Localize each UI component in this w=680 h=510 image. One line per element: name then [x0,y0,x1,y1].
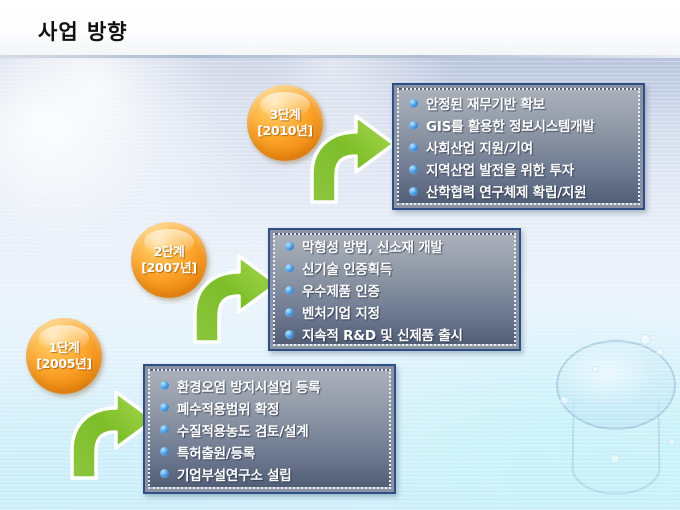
bubble-icon [610,454,620,464]
list-item: 폐수적용범위 확정 [160,398,379,418]
list-item-label: 기업부설연구소 설립 [177,464,291,484]
blue-gem-bullet-icon [160,381,169,390]
curved-arrow-icon [302,112,398,204]
stage-2-box-inner: 막형성 방법, 신소재 개발 신기술 인증획득 우수제품 인증 벤처기업 지정 … [273,233,516,346]
list-item: 벤처기업 지정 [285,302,504,322]
blue-gem-bullet-icon [160,425,169,434]
blue-gem-bullet-icon [409,99,418,108]
slide-canvas: 사업 방향 3단계 [2010년] 안정된 재무기반 확보 GIS를 활용한 정… [0,0,680,510]
list-item: 막형성 방법, 신소재 개발 [285,236,504,256]
list-item-label: 수질적용농도 검토/설계 [177,420,308,440]
blue-gem-bullet-icon [285,242,294,251]
list-item-label: 사회산업 지원/기여 [426,137,533,157]
blue-gem-bullet-icon [409,143,418,152]
list-item: 환경오염 방지시설업 등록 [160,376,379,396]
list-item: 지역산업 발전을 위한 투자 [409,159,628,179]
blue-gem-bullet-icon [160,469,169,478]
stage-badge-1-label: 1단계 [49,340,80,356]
water-glass-image [548,334,680,510]
stage-3-box-inner: 안정된 재무기반 확보 GIS를 활용한 정보시스템개발 사회산업 지원/기여 … [397,88,640,205]
stage-1-box-inner: 환경오염 방지시설업 등록 폐수적용범위 확정 수질적용농도 검토/설계 특허출… [148,369,391,489]
bubble-icon [592,366,599,373]
blue-gem-bullet-icon [285,264,294,273]
stage-1-box: 환경오염 방지시설업 등록 폐수적용범위 확정 수질적용농도 검토/설계 특허출… [143,364,396,494]
list-item: 신기술 인증획득 [285,258,504,278]
list-item-label: 우수제품 인증 [302,280,380,300]
blue-gem-bullet-icon [285,286,294,295]
list-item-label: 벤처기업 지정 [302,302,380,322]
stage-3-box: 안정된 재무기반 확보 GIS를 활용한 정보시스템개발 사회산업 지원/기여 … [392,83,645,210]
blue-gem-bullet-icon [160,447,169,456]
stage-badge-3-label: 3단계 [270,107,301,123]
stage-2-box: 막형성 방법, 신소재 개발 신기술 인증획득 우수제품 인증 벤처기업 지정 … [268,228,521,351]
list-item-label: 막형성 방법, 신소재 개발 [302,236,443,256]
stage-badge-1[interactable]: 1단계 [2005년] [26,318,102,394]
bubble-icon [640,334,651,345]
bubble-icon [560,396,569,405]
list-item: 특허출원/등록 [160,442,379,462]
blue-gem-bullet-icon [285,330,294,339]
list-item: 지속적 R&D 및 신제품 출시 [285,324,504,344]
list-item-label: 특허출원/등록 [177,442,255,462]
stage-badge-1-year: [2005년] [36,356,92,372]
blue-gem-bullet-icon [160,403,169,412]
bubble-icon [656,348,664,356]
list-item-label: 지역산업 발전을 위한 투자 [426,159,574,179]
bubble-icon [668,438,676,446]
stage-badge-2-label: 2단계 [154,244,185,260]
list-item: 사회산업 지원/기여 [409,137,628,157]
list-item-label: 안정된 재무기반 확보 [426,93,545,113]
list-item-label: 폐수적용범위 확정 [177,398,279,418]
list-item-label: 환경오염 방지시설업 등록 [177,376,320,396]
title-divider [0,55,680,58]
list-item: 우수제품 인증 [285,280,504,300]
title-band: 사업 방향 [0,0,680,57]
list-item-label: 신기술 인증획득 [302,258,392,278]
list-item-label: 지속적 R&D 및 신제품 출시 [302,324,463,344]
blue-gem-bullet-icon [409,187,418,196]
list-item-label: 산학협력 연구체제 확립/지원 [426,181,586,201]
list-item: GIS를 활용한 정보시스템개발 [409,115,628,135]
page-title: 사업 방향 [38,16,128,46]
curved-arrow-icon [185,252,281,344]
blue-gem-bullet-icon [285,308,294,317]
blue-gem-bullet-icon [409,165,418,174]
list-item: 산학협력 연구체제 확립/지원 [409,181,628,201]
list-item: 수질적용농도 검토/설계 [160,420,379,440]
list-item-label: GIS를 활용한 정보시스템개발 [426,115,595,135]
blue-gem-bullet-icon [409,121,418,130]
list-item: 안정된 재무기반 확보 [409,93,628,113]
list-item: 기업부설연구소 설립 [160,464,379,484]
